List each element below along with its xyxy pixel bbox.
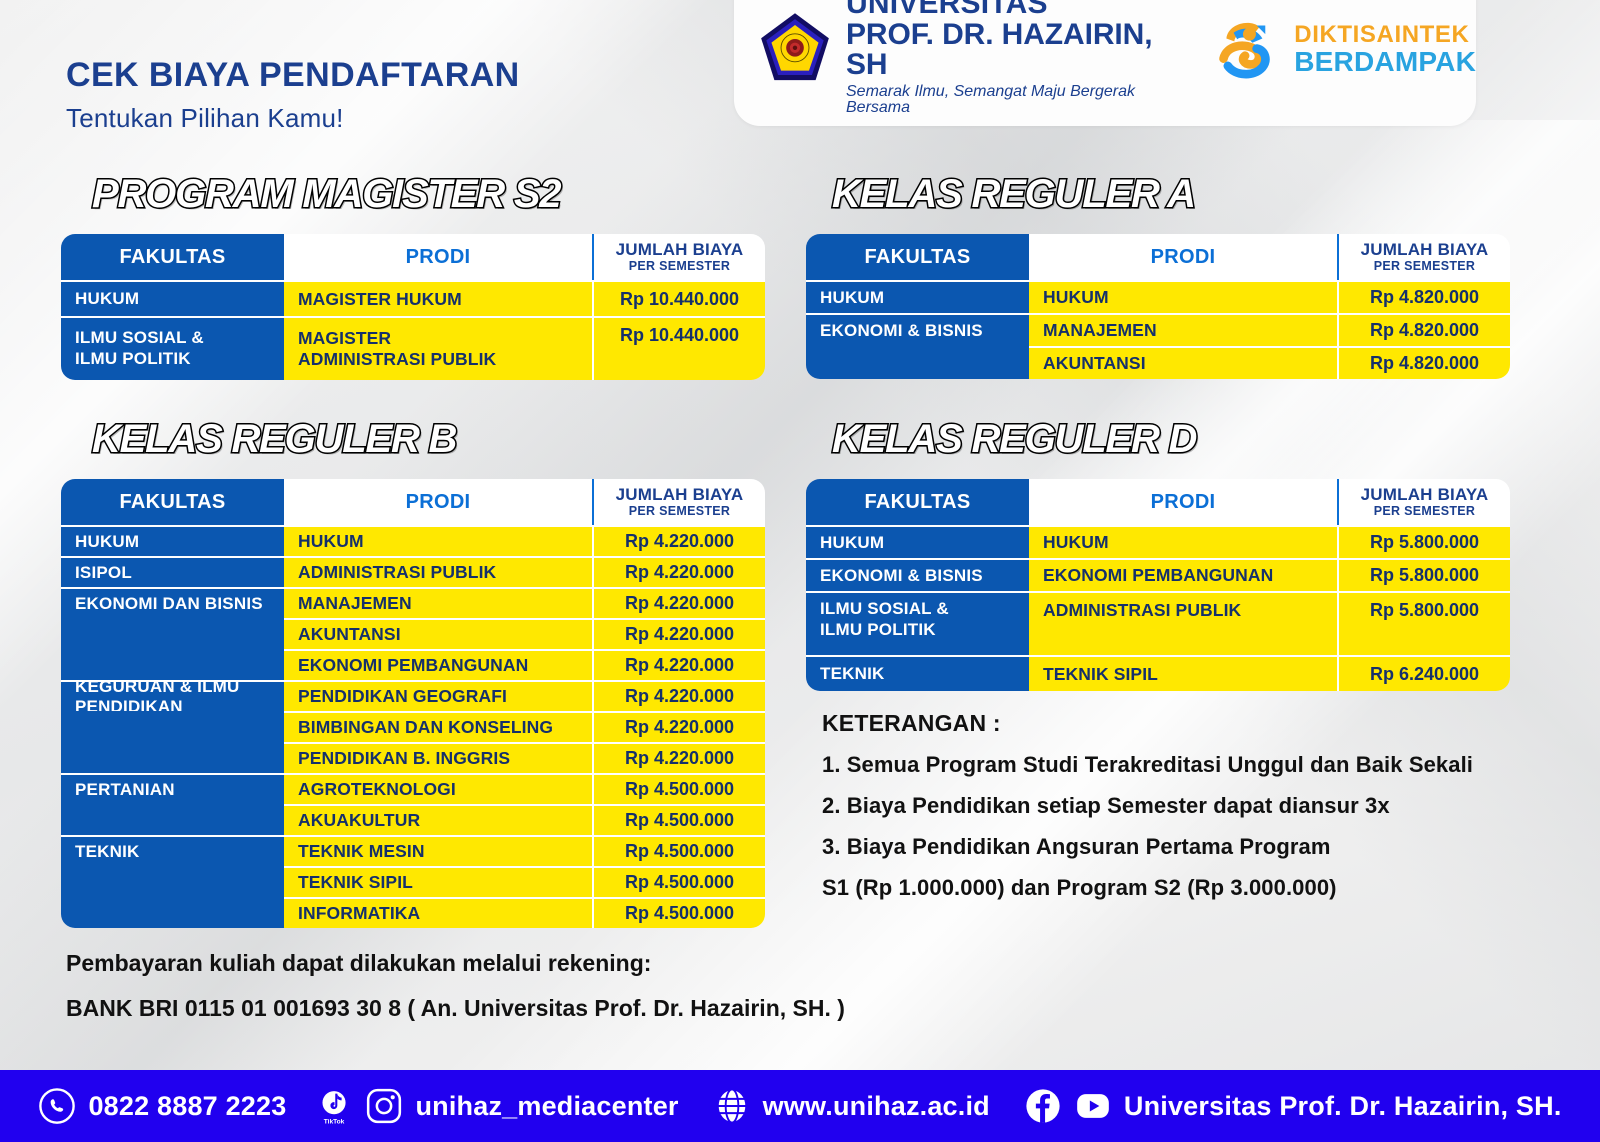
payment-note-line-2: BANK BRI 0115 01 001693 30 8 ( An. Unive… [66, 995, 845, 1022]
column-header-prodi: PRODI [284, 479, 592, 525]
table-row: KEGURUAN & ILMU PENDIDIKAN PENDIDIKAN GE… [61, 680, 765, 711]
cell-prodi: MAGISTER HUKUM [284, 280, 592, 316]
cell-biaya: Rp 4.820.000 [1337, 280, 1510, 313]
cell-fakultas: ILMU SOSIAL & ILMU POLITIK [806, 591, 1029, 655]
contact-footer-bar: 0822 8887 2223 TikTok unihaz_mediacenter [0, 1070, 1600, 1142]
keterangan-item-2: 2. Biaya Pendidikan setiap Semester dapa… [822, 793, 1473, 819]
cell-prodi: HUKUM [1029, 525, 1337, 558]
footer-social-group[interactable]: TikTok unihaz_mediacenter [320, 1086, 678, 1126]
column-header-biaya-line2: PER SEMESTER [629, 259, 731, 273]
cell-prodi: MAGISTER ADMINISTRASI PUBLIK [284, 316, 592, 380]
table-kelas-reguler-d: FAKULTAS PRODI JUMLAH BIAYA PER SEMESTER… [806, 479, 1510, 691]
table-row: EKONOMI & BISNIS EKONOMI PEMBANGUNAN Rp … [806, 558, 1510, 591]
cell-prodi: TEKNIK SIPIL [284, 866, 592, 897]
instagram-icon[interactable] [365, 1087, 403, 1125]
cell-biaya: Rp 5.800.000 [1337, 591, 1510, 655]
svg-text:TikTok: TikTok [324, 1118, 345, 1125]
keterangan-title: KETERANGAN : [822, 710, 1473, 737]
column-header-biaya-line2: PER SEMESTER [1374, 504, 1476, 518]
cell-biaya: Rp 4.220.000 [592, 742, 765, 773]
whatsapp-icon[interactable] [38, 1087, 76, 1125]
cell-prodi: HUKUM [1029, 280, 1337, 313]
table-row: PERTANIAN AGROTEKNOLOGI Rp 4.500.000 [61, 773, 765, 804]
cell-biaya: Rp 4.220.000 [592, 556, 765, 587]
cell-biaya: Rp 10.440.000 [592, 316, 765, 380]
section-title-kelas-reguler-a: KELAS REGULER A [832, 172, 1195, 217]
cell-prodi: AKUNTANSI [1029, 346, 1337, 379]
cell-prodi: TEKNIK MESIN [284, 835, 592, 866]
cell-biaya: Rp 4.500.000 [592, 897, 765, 928]
cell-fakultas [61, 866, 284, 897]
cell-prodi: TEKNIK SIPIL [1029, 655, 1337, 691]
cell-fakultas [61, 742, 284, 773]
column-header-biaya-line2: PER SEMESTER [1374, 259, 1476, 273]
university-line-2: PROF. DR. HAZAIRIN, SH [846, 20, 1156, 80]
cell-fakultas: EKONOMI & BISNIS [806, 313, 1029, 346]
table-kelas-reguler-b: FAKULTAS PRODI JUMLAH BIAYA PER SEMESTER… [61, 479, 765, 928]
table-row: TEKNIK TEKNIK MESIN Rp 4.500.000 [61, 835, 765, 866]
cell-prodi: MANAJEMEN [284, 587, 592, 618]
table-row: HUKUM HUKUM Rp 4.220.000 [61, 525, 765, 556]
table-row: AKUNTANSI Rp 4.220.000 [61, 618, 765, 649]
cell-fakultas: HUKUM [61, 280, 284, 316]
cell-prodi: ADMINISTRASI PUBLIK [1029, 591, 1337, 655]
table-row: HUKUM HUKUM Rp 4.820.000 [806, 280, 1510, 313]
keterangan-item-3: 3. Biaya Pendidikan Angsuran Pertama Pro… [822, 834, 1473, 860]
cell-fakultas: HUKUM [806, 280, 1029, 313]
cell-fakultas [61, 618, 284, 649]
cell-biaya: Rp 4.220.000 [592, 649, 765, 680]
cell-biaya: Rp 5.800.000 [1337, 525, 1510, 558]
unihaz-crest-icon [758, 11, 832, 89]
diktisaintek-figure-icon [1212, 14, 1284, 86]
cell-biaya: Rp 4.220.000 [592, 680, 765, 711]
university-line-1: UNIVERSITAS [846, 0, 1156, 19]
cell-prodi: PENDIDIKAN GEOGRAFI [284, 680, 592, 711]
cell-biaya: Rp 4.220.000 [592, 711, 765, 742]
footer-whatsapp-group[interactable]: 0822 8887 2223 [38, 1087, 286, 1125]
cell-prodi: HUKUM [284, 525, 592, 556]
footer-website-group[interactable]: www.unihaz.ac.id [713, 1087, 990, 1125]
cell-fakultas: EKONOMI & BISNIS [806, 558, 1029, 591]
cell-prodi: EKONOMI PEMBANGUNAN [1029, 558, 1337, 591]
cell-biaya: Rp 4.500.000 [592, 773, 765, 804]
table-header-row: FAKULTAS PRODI JUMLAH BIAYA PER SEMESTER [61, 234, 765, 280]
footer-page-name[interactable]: Universitas Prof. Dr. Hazairin, SH. [1124, 1091, 1562, 1122]
cell-prodi: AKUNTANSI [284, 618, 592, 649]
table-row: AKUNTANSI Rp 4.820.000 [806, 346, 1510, 379]
brand-header-card: UNIVERSITAS PROF. DR. HAZAIRIN, SH Semar… [734, 0, 1476, 126]
facebook-icon[interactable] [1024, 1087, 1062, 1125]
table-row: EKONOMI PEMBANGUNAN Rp 4.220.000 [61, 649, 765, 680]
table-kelas-reguler-a: FAKULTAS PRODI JUMLAH BIAYA PER SEMESTER… [806, 234, 1510, 379]
cell-biaya: Rp 6.240.000 [1337, 655, 1510, 691]
cell-fakultas [61, 711, 284, 742]
cell-biaya: Rp 4.820.000 [1337, 313, 1510, 346]
diktisaintek-line-2: BERDAMPAK [1294, 48, 1476, 77]
cell-biaya: Rp 4.220.000 [592, 587, 765, 618]
table-header-row: FAKULTAS PRODI JUMLAH BIAYA PER SEMESTER [61, 479, 765, 525]
cell-fakultas: KEGURUAN & ILMU PENDIDIKAN [61, 680, 284, 711]
cell-fakultas: TEKNIK [806, 655, 1029, 691]
column-header-biaya: JUMLAH BIAYA PER SEMESTER [592, 234, 765, 280]
column-header-biaya-line1: JUMLAH BIAYA [616, 241, 744, 259]
table-row: TEKNIK TEKNIK SIPIL Rp 6.240.000 [806, 655, 1510, 691]
column-header-biaya-line1: JUMLAH BIAYA [1361, 241, 1489, 259]
column-header-fakultas: FAKULTAS [61, 479, 284, 525]
cell-fakultas: TEKNIK [61, 835, 284, 866]
column-header-biaya-line1: JUMLAH BIAYA [1361, 486, 1489, 504]
diktisaintek-logo-block: DIKTISAINTEK BERDAMPAK [1212, 14, 1476, 86]
column-header-fakultas: FAKULTAS [806, 479, 1029, 525]
section-title-kelas-reguler-d: KELAS REGULER D [832, 417, 1196, 462]
cell-fakultas [61, 804, 284, 835]
column-header-prodi: PRODI [284, 234, 592, 280]
section-title-kelas-reguler-b: KELAS REGULER B [92, 417, 456, 462]
keterangan-item-3-cont: S1 (Rp 1.000.000) dan Program S2 (Rp 3.0… [822, 875, 1473, 901]
column-header-biaya: JUMLAH BIAYA PER SEMESTER [1337, 234, 1510, 280]
column-header-fakultas: FAKULTAS [806, 234, 1029, 280]
cell-biaya: Rp 10.440.000 [592, 280, 765, 316]
table-row: AKUAKULTUR Rp 4.500.000 [61, 804, 765, 835]
table-row: PENDIDIKAN B. INGGRIS Rp 4.220.000 [61, 742, 765, 773]
cell-fakultas: HUKUM [61, 525, 284, 556]
cell-prodi: MANAJEMEN [1029, 313, 1337, 346]
footer-social-handle[interactable]: unihaz_mediacenter [415, 1091, 678, 1122]
table-row: EKONOMI & BISNIS MANAJEMEN Rp 4.820.000 [806, 313, 1510, 346]
cell-fakultas: ISIPOL [61, 556, 284, 587]
cell-biaya: Rp 4.820.000 [1337, 346, 1510, 379]
table-row: INFORMATIKA Rp 4.500.000 [61, 897, 765, 928]
cell-prodi: INFORMATIKA [284, 897, 592, 928]
globe-icon[interactable] [713, 1087, 751, 1125]
column-header-fakultas: FAKULTAS [61, 234, 284, 280]
table-row: BIMBINGAN DAN KONSELING Rp 4.220.000 [61, 711, 765, 742]
footer-whatsapp-number[interactable]: 0822 8887 2223 [88, 1091, 286, 1122]
table-row: TEKNIK SIPIL Rp 4.500.000 [61, 866, 765, 897]
page-headline: CEK BIAYA PENDAFTARAN Tentukan Pilihan K… [66, 56, 520, 134]
tiktok-icon[interactable]: TikTok [320, 1086, 353, 1126]
table-program-magister-s2: FAKULTAS PRODI JUMLAH BIAYA PER SEMESTER… [61, 234, 765, 380]
cell-prodi: AGROTEKNOLOGI [284, 773, 592, 804]
cell-prodi: ADMINISTRASI PUBLIK [284, 556, 592, 587]
university-name-block: UNIVERSITAS PROF. DR. HAZAIRIN, SH Semar… [846, 0, 1156, 116]
cell-fakultas: ILMU SOSIAL & ILMU POLITIK [61, 316, 284, 380]
cell-fakultas: PERTANIAN [61, 773, 284, 804]
cell-prodi: AKUAKULTUR [284, 804, 592, 835]
footer-page-group[interactable]: Universitas Prof. Dr. Hazairin, SH. [1024, 1087, 1562, 1125]
payment-note-line-1: Pembayaran kuliah dapat dilakukan melalu… [66, 950, 845, 977]
cell-biaya: Rp 4.500.000 [592, 866, 765, 897]
cell-fakultas [806, 346, 1029, 379]
keterangan-item-1: 1. Semua Program Studi Terakreditasi Ung… [822, 752, 1473, 778]
cell-prodi: BIMBINGAN DAN KONSELING [284, 711, 592, 742]
headline-primary: CEK BIAYA PENDAFTARAN [66, 56, 520, 95]
table-row: EKONOMI DAN BISNIS MANAJEMEN Rp 4.220.00… [61, 587, 765, 618]
column-header-prodi: PRODI [1029, 234, 1337, 280]
column-header-biaya: JUMLAH BIAYA PER SEMESTER [1337, 479, 1510, 525]
table-row: ILMU SOSIAL & ILMU POLITIK ADMINISTRASI … [806, 591, 1510, 655]
column-header-biaya: JUMLAH BIAYA PER SEMESTER [592, 479, 765, 525]
diktisaintek-text-block: DIKTISAINTEK BERDAMPAK [1294, 23, 1476, 76]
table-header-row: FAKULTAS PRODI JUMLAH BIAYA PER SEMESTER [806, 479, 1510, 525]
column-header-biaya-line2: PER SEMESTER [629, 504, 731, 518]
cell-fakultas: EKONOMI DAN BISNIS [61, 587, 284, 618]
diktisaintek-line-1: DIKTISAINTEK [1294, 23, 1476, 47]
cell-fakultas [61, 897, 284, 928]
footer-website-url[interactable]: www.unihaz.ac.id [763, 1091, 990, 1122]
cell-fakultas: HUKUM [806, 525, 1029, 558]
university-tagline: Semarak Ilmu, Semangat Maju Bergerak Ber… [846, 84, 1156, 116]
cell-fakultas [61, 649, 284, 680]
payment-note-block: Pembayaran kuliah dapat dilakukan melalu… [66, 950, 845, 1022]
table-row: ILMU SOSIAL & ILMU POLITIK MAGISTER ADMI… [61, 316, 765, 380]
table-row: ISIPOL ADMINISTRASI PUBLIK Rp 4.220.000 [61, 556, 765, 587]
table-row: HUKUM MAGISTER HUKUM Rp 10.440.000 [61, 280, 765, 316]
cell-biaya: Rp 4.500.000 [592, 804, 765, 835]
headline-secondary: Tentukan Pilihan Kamu! [66, 103, 520, 134]
cell-biaya: Rp 4.220.000 [592, 525, 765, 556]
column-header-biaya-line1: JUMLAH BIAYA [616, 486, 744, 504]
column-header-prodi: PRODI [1029, 479, 1337, 525]
section-title-program-magister-s2: PROGRAM MAGISTER S2 [92, 172, 560, 217]
youtube-icon[interactable] [1074, 1087, 1112, 1125]
cell-biaya: Rp 5.800.000 [1337, 558, 1510, 591]
cell-prodi: PENDIDIKAN B. INGGRIS [284, 742, 592, 773]
keterangan-block: KETERANGAN : 1. Semua Program Studi Tera… [822, 710, 1473, 901]
cell-prodi: EKONOMI PEMBANGUNAN [284, 649, 592, 680]
table-row: HUKUM HUKUM Rp 5.800.000 [806, 525, 1510, 558]
cell-biaya: Rp 4.500.000 [592, 835, 765, 866]
table-header-row: FAKULTAS PRODI JUMLAH BIAYA PER SEMESTER [806, 234, 1510, 280]
cell-biaya: Rp 4.220.000 [592, 618, 765, 649]
